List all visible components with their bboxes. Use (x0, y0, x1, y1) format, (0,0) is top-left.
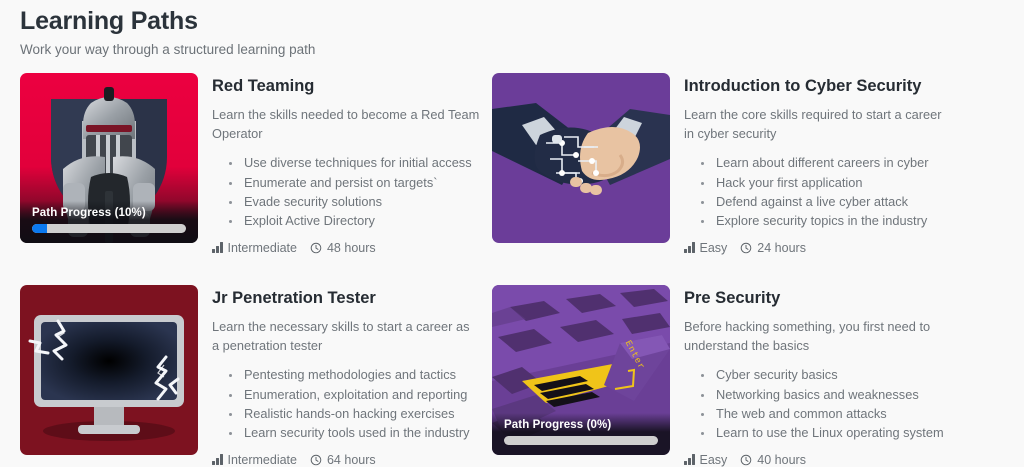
path-bullet-list: Learn about different careers in cyberHa… (684, 153, 964, 231)
path-duration-label: 24 hours (757, 241, 806, 255)
path-bullet-list: Use diverse techniques for initial acces… (212, 153, 492, 231)
signal-bars-icon (212, 242, 223, 253)
path-progress-track (32, 224, 186, 233)
path-thumbnail[interactable] (20, 285, 198, 455)
path-bullet: The web and common attacks (714, 404, 964, 423)
path-description: Learn the necessary skills to start a ca… (212, 317, 480, 355)
path-duration: 48 hours (310, 241, 376, 255)
path-details: Red Teaming Learn the skills needed to b… (212, 73, 492, 255)
path-bullet: Defend against a live cyber attack (714, 192, 964, 211)
robot-handshake-illustration (492, 73, 670, 243)
path-details: Jr Penetration Tester Learn the necessar… (212, 285, 492, 467)
path-bullet: Learn about different careers in cyber (714, 153, 964, 172)
path-description: Before hacking something, you first need… (684, 317, 952, 355)
path-progress-fill (32, 224, 47, 233)
path-bullet: Learn to use the Linux operating system (714, 423, 964, 442)
path-bullet: Enumerate and persist on targets` (242, 173, 492, 192)
learning-paths-grid: Path Progress (10%) Red Teaming Learn th… (20, 73, 1004, 467)
path-bullet: Learn security tools used in the industr… (242, 423, 492, 442)
path-bullet: Explore security topics in the industry (714, 211, 964, 230)
path-difficulty-label: Easy (700, 241, 728, 255)
path-bullet: Hack your first application (714, 173, 964, 192)
path-meta: Intermediate 48 hours (212, 241, 492, 255)
path-bullet-list: Pentesting methodologies and tacticsEnum… (212, 365, 492, 443)
path-difficulty: Intermediate (212, 241, 297, 255)
path-thumbnail[interactable] (492, 73, 670, 243)
monitor-lightning-illustration (20, 285, 198, 455)
path-progress: Path Progress (0%) (492, 413, 670, 455)
learning-path-card[interactable]: Enter Path Progress (0%) Pre Security Be… (492, 285, 964, 467)
path-progress-label: Path Progress (0%) (504, 419, 658, 431)
learning-paths-page: Learning Paths Work your way through a s… (0, 0, 1024, 460)
path-title[interactable]: Pre Security (684, 289, 964, 309)
path-bullet: Networking basics and weaknesses (714, 385, 964, 404)
path-thumbnail[interactable]: Path Progress (10%) (20, 73, 198, 243)
learning-path-card[interactable]: Introduction to Cyber Security Learn the… (492, 73, 964, 255)
path-progress-track (504, 436, 658, 445)
path-bullet-list: Cyber security basicsNetworking basics a… (684, 365, 964, 443)
path-duration-label: 48 hours (327, 241, 376, 255)
learning-path-card[interactable]: Path Progress (10%) Red Teaming Learn th… (20, 73, 492, 255)
path-description: Learn the core skills required to start … (684, 105, 952, 143)
path-bullet: Exploit Active Directory (242, 211, 492, 230)
path-bullet: Enumeration, exploitation and reporting (242, 385, 492, 404)
path-title[interactable]: Jr Penetration Tester (212, 289, 492, 309)
path-title[interactable]: Red Teaming (212, 77, 492, 97)
learning-path-card[interactable]: Jr Penetration Tester Learn the necessar… (20, 285, 492, 467)
signal-bars-icon (684, 242, 695, 253)
path-difficulty: Easy (684, 241, 727, 255)
path-bullet: Realistic hands-on hacking exercises (242, 404, 492, 423)
page-subtitle: Work your way through a structured learn… (20, 42, 1004, 57)
path-bullet: Use diverse techniques for initial acces… (242, 153, 492, 172)
clock-icon (740, 242, 752, 254)
path-thumbnail[interactable]: Enter Path Progress (0%) (492, 285, 670, 455)
path-progress: Path Progress (10%) (20, 201, 198, 243)
path-duration: 24 hours (740, 241, 806, 255)
path-bullet: Cyber security basics (714, 365, 964, 384)
clock-icon (310, 242, 322, 254)
path-bullet: Evade security solutions (242, 192, 492, 211)
path-description: Learn the skills needed to become a Red … (212, 105, 480, 143)
page-title: Learning Paths (20, 6, 1004, 36)
path-details: Pre Security Before hacking something, y… (684, 285, 964, 467)
path-progress-label: Path Progress (10%) (32, 207, 186, 219)
path-title[interactable]: Introduction to Cyber Security (684, 77, 964, 97)
path-bullet: Pentesting methodologies and tactics (242, 365, 492, 384)
path-meta: Easy 24 hours (684, 241, 964, 255)
path-difficulty-label: Intermediate (228, 241, 297, 255)
path-details: Introduction to Cyber Security Learn the… (684, 73, 964, 255)
